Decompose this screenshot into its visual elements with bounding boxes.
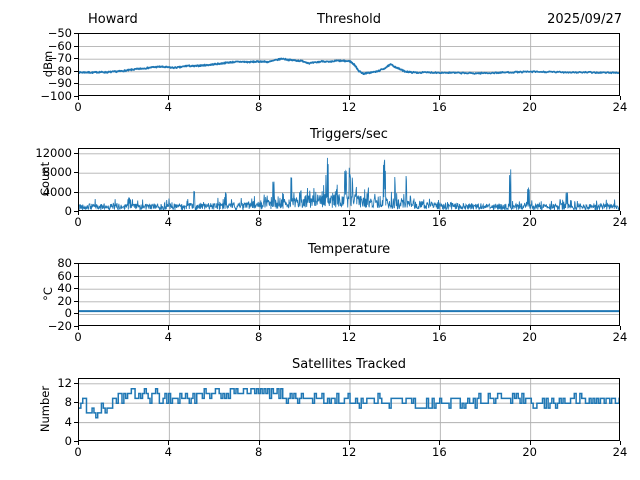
trace-svg-1 <box>79 34 620 96</box>
x-tick-label: 20 <box>510 215 550 229</box>
x-tick-mark <box>168 211 169 215</box>
x-tick-mark <box>620 96 621 100</box>
y-tick-mark <box>74 192 78 193</box>
x-tick-label: 8 <box>239 330 279 344</box>
x-tick-label: 8 <box>239 445 279 459</box>
y-tick-label: 80 <box>2 256 72 270</box>
x-tick-label: 4 <box>148 445 188 459</box>
panel-title-3: Temperature <box>78 242 620 257</box>
x-tick-label: 24 <box>600 330 640 344</box>
y-tick-label: 4000 <box>2 185 72 199</box>
x-tick-mark <box>439 441 440 445</box>
x-tick-label: 4 <box>148 215 188 229</box>
x-tick-label: 20 <box>510 100 550 114</box>
y-tick-mark <box>74 33 78 34</box>
x-tick-mark <box>259 211 260 215</box>
y-tick-mark <box>74 83 78 84</box>
x-tick-mark <box>78 211 79 215</box>
x-tick-label: 20 <box>510 330 550 344</box>
y-tick-mark <box>74 153 78 154</box>
x-tick-mark <box>349 96 350 100</box>
plot-area-1 <box>78 33 620 96</box>
x-tick-mark <box>530 326 531 330</box>
y-tick-mark <box>74 263 78 264</box>
x-tick-label: 20 <box>510 445 550 459</box>
x-tick-mark <box>168 441 169 445</box>
trace-svg-4 <box>79 379 620 441</box>
plot-area-4 <box>78 378 620 441</box>
x-tick-label: 0 <box>58 100 98 114</box>
x-tick-label: 0 <box>58 445 98 459</box>
x-tick-label: 16 <box>419 215 459 229</box>
y-tick-mark <box>74 58 78 59</box>
x-tick-mark <box>259 96 260 100</box>
y-tick-label: −70 <box>2 51 72 65</box>
y-tick-mark <box>74 422 78 423</box>
y-tick-mark <box>74 402 78 403</box>
y-tick-mark <box>74 301 78 302</box>
y-tick-mark <box>74 71 78 72</box>
x-tick-mark <box>78 96 79 100</box>
x-tick-label: 0 <box>58 215 98 229</box>
figure-canvas: Howard 2025/09/27 ThresholddBm−100−90−80… <box>0 0 640 480</box>
x-tick-mark <box>349 441 350 445</box>
x-tick-label: 12 <box>329 330 369 344</box>
x-tick-mark <box>439 96 440 100</box>
x-tick-label: 4 <box>148 330 188 344</box>
y-tick-mark <box>74 288 78 289</box>
y-tick-mark <box>74 383 78 384</box>
y-tick-label: 20 <box>2 294 72 308</box>
x-tick-label: 24 <box>600 100 640 114</box>
y-tick-label: 0 <box>2 306 72 320</box>
y-tick-label: 40 <box>2 281 72 295</box>
x-tick-mark <box>439 211 440 215</box>
x-tick-mark <box>620 211 621 215</box>
x-tick-label: 12 <box>329 215 369 229</box>
trace-svg-2 <box>79 149 620 211</box>
x-tick-label: 16 <box>419 445 459 459</box>
x-tick-mark <box>259 326 260 330</box>
y-tick-label: −60 <box>2 39 72 53</box>
x-tick-label: 16 <box>419 330 459 344</box>
x-tick-label: 8 <box>239 100 279 114</box>
x-tick-mark <box>530 211 531 215</box>
x-tick-label: 24 <box>600 215 640 229</box>
x-tick-mark <box>620 326 621 330</box>
x-tick-label: 8 <box>239 215 279 229</box>
y-tick-label: 8000 <box>2 165 72 179</box>
x-tick-label: 4 <box>148 100 188 114</box>
plot-area-3 <box>78 263 620 326</box>
panel-title-2: Triggers/sec <box>78 127 620 142</box>
y-tick-label: −50 <box>2 26 72 40</box>
y-tick-label: 60 <box>2 269 72 283</box>
plot-area-2 <box>78 148 620 211</box>
y-tick-label: 4 <box>2 415 72 429</box>
x-tick-mark <box>530 96 531 100</box>
x-tick-mark <box>168 326 169 330</box>
x-tick-mark <box>349 326 350 330</box>
x-tick-mark <box>439 326 440 330</box>
x-tick-mark <box>259 441 260 445</box>
x-tick-mark <box>530 441 531 445</box>
x-tick-label: 12 <box>329 100 369 114</box>
x-tick-label: 0 <box>58 330 98 344</box>
y-tick-label: −80 <box>2 64 72 78</box>
x-tick-label: 24 <box>600 445 640 459</box>
x-tick-mark <box>620 441 621 445</box>
y-tick-mark <box>74 313 78 314</box>
x-tick-mark <box>78 326 79 330</box>
triggers-trace <box>79 158 620 210</box>
center-title-label: Threshold <box>78 12 620 27</box>
x-tick-mark <box>168 96 169 100</box>
trace-svg-3 <box>79 264 620 326</box>
y-tick-mark <box>74 46 78 47</box>
x-tick-label: 16 <box>419 100 459 114</box>
x-tick-label: 12 <box>329 445 369 459</box>
y-tick-mark <box>74 276 78 277</box>
x-tick-mark <box>78 441 79 445</box>
y-tick-label: 12000 <box>2 146 72 160</box>
satellites-trace <box>79 389 620 418</box>
y-tick-label: 12 <box>2 376 72 390</box>
panel-title-4: Satellites Tracked <box>78 357 620 372</box>
y-tick-label: −90 <box>2 76 72 90</box>
y-tick-label: 8 <box>2 395 72 409</box>
y-tick-mark <box>74 172 78 173</box>
x-tick-mark <box>349 211 350 215</box>
